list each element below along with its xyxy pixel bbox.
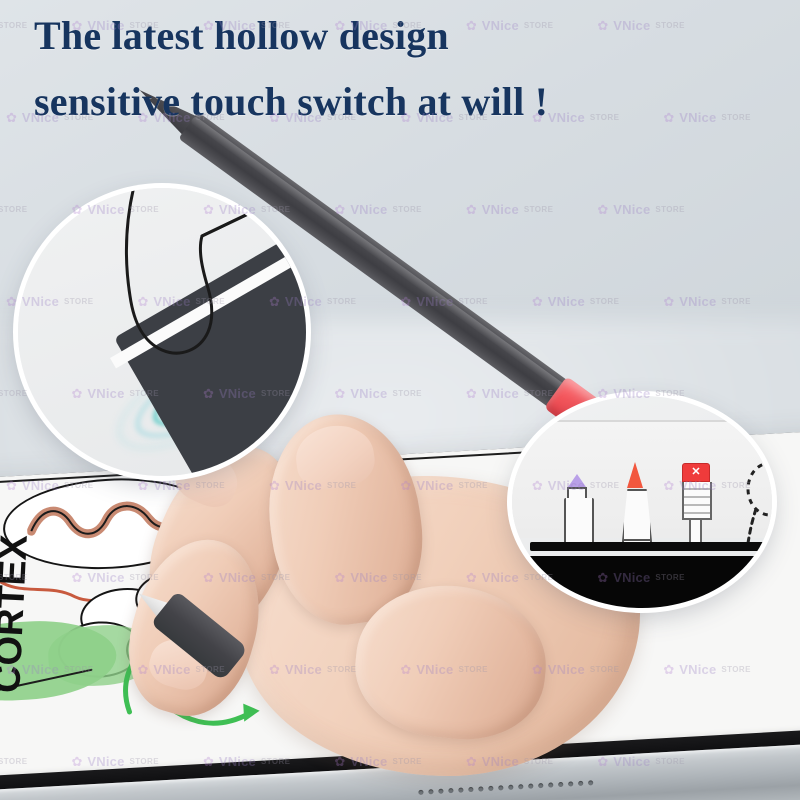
tool-pencil[interactable] (622, 462, 648, 550)
watermark-mark: ✿VNiceSTORE (466, 202, 553, 217)
lasso-icon (740, 459, 772, 545)
watermark-suffix: STORE (524, 205, 553, 214)
flower-icon: ✿ (6, 111, 17, 124)
toolbar-bezel (512, 556, 772, 608)
watermark-mark: ✿VNiceSTORE (532, 294, 619, 309)
ipad-toolbar-scene: ✕ (512, 396, 772, 608)
ruler-shaft (682, 482, 712, 520)
headline-line-1: The latest hollow design (34, 16, 714, 56)
watermark-brand: VNice (548, 294, 585, 309)
highlighter-tip-icon (568, 474, 586, 487)
watermark-suffix: STORE (0, 21, 27, 30)
callout-tool-palette: ✕ (512, 396, 772, 608)
watermark-mark: ✿VNiceSTORE (0, 18, 27, 33)
watermark-suffix: STORE (392, 205, 421, 214)
watermark-suffix: STORE (721, 297, 750, 306)
highlighter-neck (567, 487, 587, 498)
tool-lasso-select[interactable] (740, 459, 772, 550)
watermark-mark: ✿VNiceSTORE (597, 202, 684, 217)
watermark-suffix: STORE (721, 113, 750, 122)
flower-icon: ✿ (663, 295, 674, 308)
watermark-brand: VNice (350, 202, 387, 217)
eraser-close-badge[interactable]: ✕ (682, 463, 710, 482)
finger-outline-icon (96, 188, 286, 394)
pencil-body (622, 489, 652, 541)
tool-eraser-ruler[interactable]: ✕ (682, 463, 708, 550)
watermark-suffix: STORE (590, 297, 619, 306)
toolbar-top-rule (512, 420, 772, 422)
watermark-brand: VNice (679, 294, 716, 309)
watermark-suffix: STORE (327, 297, 356, 306)
flower-icon: ✿ (6, 295, 17, 308)
watermark-brand: VNice (482, 202, 519, 217)
flower-icon: ✿ (597, 203, 608, 216)
callout-touch-sensor (18, 188, 306, 476)
watermark-mark: ✿VNiceSTORE (663, 294, 750, 309)
page-title: The latest hollow design sensitive touch… (34, 16, 714, 122)
flower-icon: ✿ (466, 203, 477, 216)
toolbar-black-bar (530, 542, 772, 551)
product-marketing-image: CORTEX FRONTAL FRONTAL LOBE BROCA'S AREA… (0, 0, 800, 800)
pencil-tip-icon (627, 462, 643, 488)
flower-icon: ✿ (532, 295, 543, 308)
headline-line-2: sensitive touch switch at will ! (34, 82, 714, 122)
watermark-suffix: STORE (655, 205, 684, 214)
watermark-brand: VNice (613, 202, 650, 217)
tool-highlighter[interactable] (564, 474, 590, 550)
